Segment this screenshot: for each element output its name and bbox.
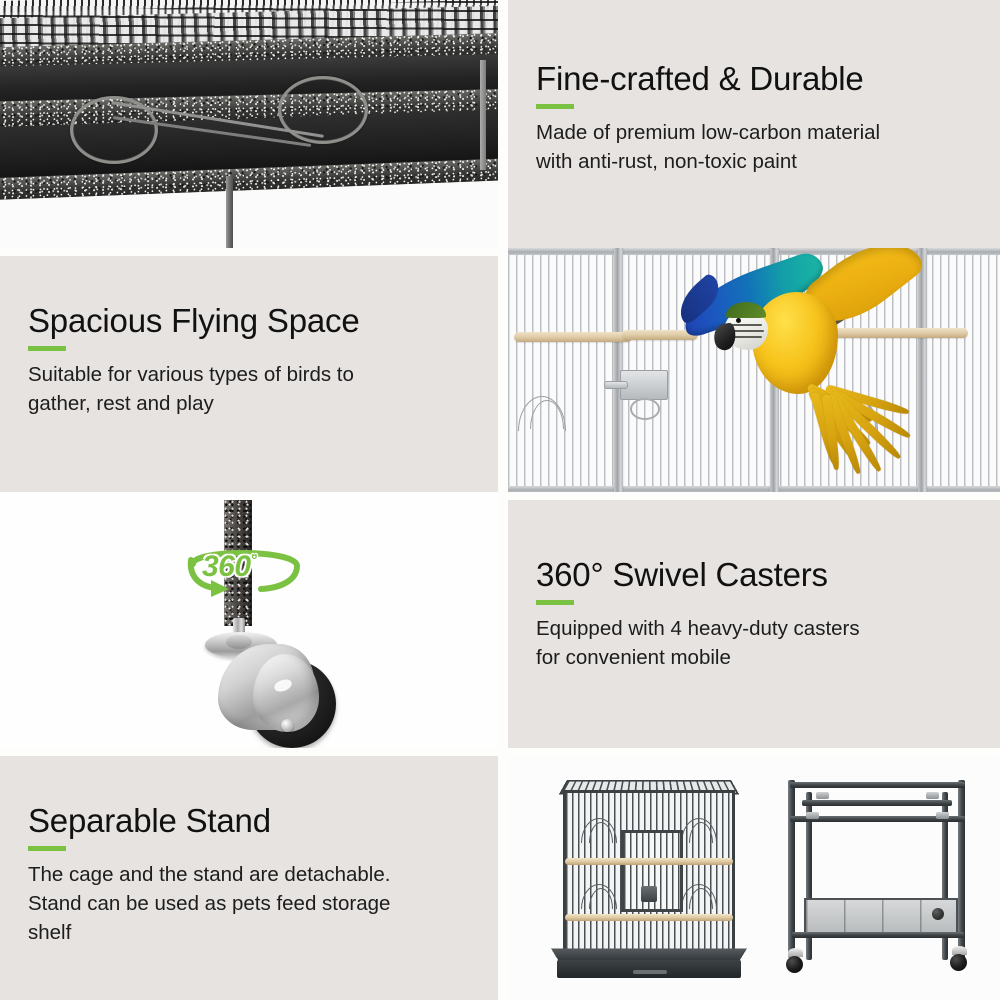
macaw-body — [752, 292, 838, 394]
stand-bracket — [806, 812, 819, 819]
feature-body-separable-stand: The cage and the stand are detachable. S… — [28, 860, 480, 947]
wood-perch-left — [514, 332, 632, 342]
detached-cage — [553, 774, 745, 984]
feature-body-swivel-casters: Equipped with 4 heavy-duty casters for c… — [536, 614, 966, 672]
feature-body-line: gather, rest and play — [28, 389, 458, 418]
decorative-scroll-wire — [60, 68, 390, 178]
feature-card-fine-crafted: Fine-crafted & Durable Made of premium l… — [508, 0, 1000, 248]
photo-swivel-caster: 360° — [0, 492, 498, 748]
accent-rule — [28, 346, 66, 351]
stand-leg-center — [226, 176, 233, 248]
product-feature-collage: Fine-crafted & Durable Made of premium l… — [0, 0, 1000, 1000]
stand-bracket — [936, 812, 949, 819]
detached-stand — [780, 770, 980, 984]
feature-body-line: Stand can be used as pets feed storage — [28, 889, 480, 918]
feature-card-spacious-flying-space: Spacious Flying Space Suitable for vario… — [0, 256, 498, 492]
feature-body-line: Made of premium low-carbon material — [536, 118, 966, 147]
feature-body-line: shelf — [28, 918, 480, 947]
feature-body-line: Suitable for various types of birds to — [28, 360, 458, 389]
stand-bottom-rail — [792, 932, 964, 938]
stand-bracket — [816, 792, 829, 799]
feature-body-line: Equipped with 4 heavy-duty casters — [536, 614, 966, 643]
stand-bracket — [926, 792, 939, 799]
feature-title-swivel-casters: 360° Swivel Casters — [536, 558, 982, 593]
feature-title-spacious-flying-space: Spacious Flying Space — [28, 304, 480, 339]
cage-frame-illustration — [0, 0, 498, 248]
stand-leg-right — [480, 60, 486, 170]
caster-swivel-nut — [226, 635, 252, 649]
rotation-degree-number: 360 — [202, 550, 251, 583]
accent-rule — [28, 846, 66, 851]
photo-cage-frame-closeup — [0, 0, 498, 248]
feature-title-fine-crafted: Fine-crafted & Durable — [536, 62, 982, 97]
stand-top-rail-front — [802, 800, 952, 806]
rotation-degree-label: 360° — [202, 552, 256, 582]
macaw-bird — [690, 258, 940, 488]
feature-card-separable-stand: Separable Stand The cage and the stand a… — [0, 756, 498, 1000]
macaw-eye — [736, 318, 741, 323]
cage-door-ring — [630, 398, 660, 420]
cage-pull-out-tray[interactable] — [557, 960, 741, 978]
cage-perch-lower — [565, 914, 733, 921]
cage-stand-scene — [508, 756, 1000, 1000]
stand-caster-rear — [932, 908, 944, 920]
accent-rule — [536, 104, 574, 109]
feature-body-line: with anti-rust, non-toxic paint — [536, 147, 966, 176]
cage-door-latch[interactable] — [641, 886, 657, 902]
caster-axle-rivet — [281, 719, 294, 732]
caster-scene: 360° — [0, 492, 498, 748]
macaw-scene — [508, 248, 1000, 492]
stand-caster-left — [786, 956, 803, 973]
feature-body-line: The cage and the stand are detachable. — [28, 860, 480, 889]
accent-rule — [536, 600, 574, 605]
stand-top-rail-rear — [790, 782, 965, 788]
feature-body-fine-crafted: Made of premium low-carbon material with… — [536, 118, 966, 176]
feature-card-swivel-casters: 360° Swivel Casters Equipped with 4 heav… — [508, 500, 1000, 748]
feature-body-spacious-flying-space: Suitable for various types of birds to g… — [28, 360, 458, 418]
cage-door-latch-bar — [604, 381, 628, 389]
feature-title-separable-stand: Separable Stand — [28, 804, 480, 839]
stand-caster-right — [950, 954, 967, 971]
feature-body-line: for convenient mobile — [536, 643, 966, 672]
rotation-degree-symbol: ° — [251, 552, 257, 569]
photo-cage-and-stand — [508, 756, 1000, 1000]
cage-perch-upper — [565, 858, 733, 865]
cage-tray-handle[interactable] — [633, 970, 667, 974]
photo-macaw-in-cage — [508, 248, 1000, 492]
